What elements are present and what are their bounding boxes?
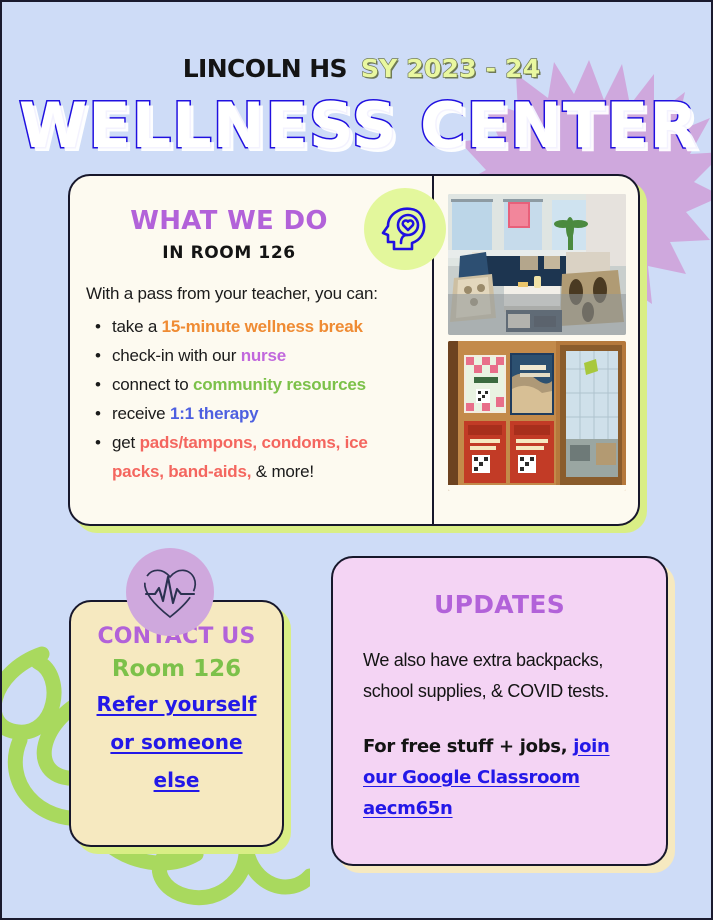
what-we-do-bullet: check-in with our nurse: [112, 341, 414, 370]
school-year: SY 2023 - 24: [361, 54, 540, 83]
updates-cta-lead: For free stuff + jobs,: [363, 736, 573, 757]
what-we-do-card: WHAT WE DO IN ROOM 126 With a pass from …: [68, 174, 640, 526]
photo-wellness-lounge: [448, 194, 626, 335]
refer-link-line-2[interactable]: or someone: [81, 726, 272, 758]
refer-link[interactable]: Refer yourself or someone else: [81, 688, 272, 796]
bullet-lead: connect to: [112, 375, 193, 394]
contact-room: Room 126: [81, 656, 272, 682]
school-name: LINCOLN HS: [183, 54, 347, 83]
updates-cta: For free stuff + jobs, join our Google C…: [363, 731, 636, 824]
contact-us-card: CONTACT US Room 126 Refer yourself or so…: [69, 600, 284, 847]
bullet-highlight: 1:1 therapy: [170, 404, 259, 423]
page-title: WELLNESS CENTER: [2, 89, 713, 162]
refer-link-line-3[interactable]: else: [81, 764, 272, 796]
poster-header: LINCOLN HS SY 2023 - 24 WELLNESS CENTER: [2, 54, 713, 162]
updates-card: UPDATES We also have extra backpacks, sc…: [331, 556, 668, 866]
bullet-highlight: 15-minute wellness break: [162, 317, 363, 336]
bullet-lead: take a: [112, 317, 162, 336]
what-we-do-bullet-list: take a 15-minute wellness breakcheck-in …: [86, 312, 414, 486]
what-we-do-bullet: connect to community resources: [112, 370, 414, 399]
updates-body: We also have extra backpacks, school sup…: [363, 645, 636, 707]
what-we-do-subtitle: IN ROOM 126: [86, 243, 414, 263]
updates-title: UPDATES: [363, 590, 636, 619]
bullet-highlight: nurse: [241, 346, 286, 365]
bullet-lead: receive: [112, 404, 170, 423]
bullet-highlight: community resources: [193, 375, 366, 394]
what-we-do-photo-column: [434, 176, 640, 524]
bullet-lead: check-in with our: [112, 346, 241, 365]
bullet-tail: & more!: [251, 462, 314, 481]
what-we-do-bullet: receive 1:1 therapy: [112, 399, 414, 428]
photo-resource-board: [448, 341, 626, 491]
refer-link-line-1[interactable]: Refer yourself: [81, 688, 272, 720]
what-we-do-bullet: get pads/tampons, condoms, ice packs, ba…: [112, 428, 414, 486]
what-we-do-intro: With a pass from your teacher, you can:: [86, 284, 414, 304]
header-kicker-row: LINCOLN HS SY 2023 - 24: [2, 54, 713, 83]
head-with-heart-icon: [364, 188, 446, 270]
heart-pulse-icon: [126, 548, 214, 636]
bullet-lead: get: [112, 433, 140, 452]
wellness-center-poster: LINCOLN HS SY 2023 - 24 WELLNESS CENTER …: [0, 0, 713, 920]
bullet-highlight: pads/tampons, condoms, ice packs, band-a…: [112, 433, 368, 481]
what-we-do-bullet: take a 15-minute wellness break: [112, 312, 414, 341]
